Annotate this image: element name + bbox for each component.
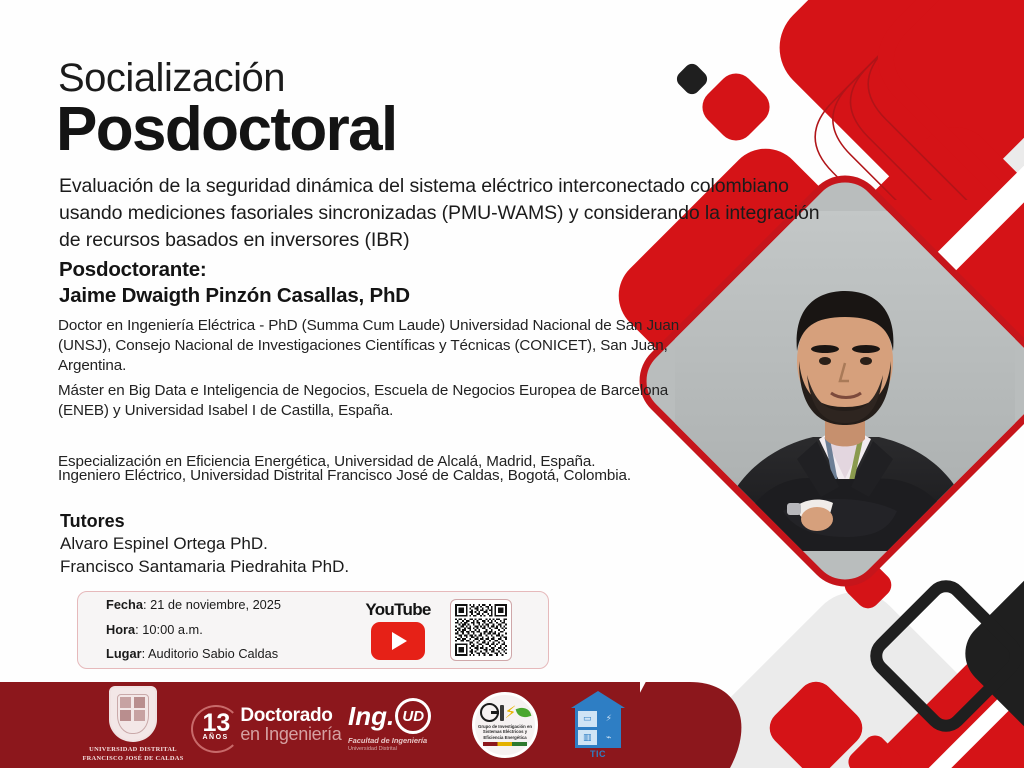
tutors-list: Alvaro Espinel Ortega PhD. Francisco San… (60, 532, 349, 579)
event-details: Fecha: 21 de noviembre, 2025 Hora: 10:00… (106, 593, 356, 668)
event-time-value: 10:00 a.m. (142, 622, 202, 637)
tic-roof-icon (571, 691, 625, 708)
ud-wordmark: UNIVERSIDAD DISTRITAL FRANCISCO JOSÉ DE … (82, 746, 183, 763)
tic-cell-plug: ⌁ (600, 730, 619, 746)
poster-headline: Posdoctoral (56, 99, 397, 161)
shield-quadrant (120, 697, 131, 708)
giee-i-icon (500, 705, 504, 721)
ing-row: Ing. UD (348, 698, 431, 734)
logo-giee: ⚡ Grupo de Investigación en Sistemas Elé… (466, 692, 544, 758)
ing-ud-circle-icon: UD (395, 698, 431, 734)
doctorado-years-number: 13 (203, 712, 231, 735)
poster-kicker: Socialización (58, 58, 285, 98)
giee-color-bar (483, 742, 527, 746)
doctorado-word-1: Doctorado (240, 707, 341, 725)
giee-circle-badge: ⚡ Grupo de Investigación en Sistemas Elé… (472, 692, 538, 758)
event-date-value: 21 de noviembre, 2025 (150, 597, 281, 612)
tutor-item: Alvaro Espinel Ortega PhD. (60, 532, 349, 555)
giee-text: Grupo de Investigación en Sistemas Eléct… (477, 724, 533, 741)
ud-line-2: FRANCISCO JOSÉ DE CALDAS (82, 755, 183, 764)
tic-cell-screen: ▭ (578, 711, 597, 727)
poster-content: Socialización Posdoctoral Evaluación de … (0, 0, 1024, 768)
logo-doctorado-en-ingenieria: 13 AÑOS Doctorado en Ingeniería (194, 707, 344, 743)
logo-universidad-distrital: UNIVERSIDAD DISTRITAL FRANCISCO JOSÉ DE … (78, 686, 188, 763)
tic-cell-chart: ▥ (578, 730, 597, 746)
ud-shield-icon (109, 686, 157, 742)
doctorado-word-2: en Ingeniería (240, 725, 341, 743)
ud-line-1: UNIVERSIDAD DISTRITAL (82, 746, 183, 755)
lightning-bolt-icon: ⚡ (505, 704, 517, 721)
tic-wordmark: TIC (590, 749, 606, 759)
event-date-label: Fecha (106, 597, 143, 612)
leaf-icon (516, 705, 532, 719)
event-info-card: Fecha: 21 de noviembre, 2025 Hora: 10:00… (77, 591, 549, 669)
shield-quadrant (120, 710, 131, 721)
presenter-block: Posdoctorante: Jaime Dwaigth Pinzón Casa… (59, 257, 410, 309)
giee-icon-group: ⚡ (480, 704, 531, 722)
doctorado-badge: 13 AÑOS (197, 709, 235, 742)
tic-cell-bolt: ⚡ (600, 711, 619, 727)
bio-paragraph-4: Ingeniero Eléctrico, Universidad Distrit… (58, 466, 713, 486)
ing-subtitle-1: Facultad de Ingeniería (348, 736, 427, 745)
event-date-line: Fecha: 21 de noviembre, 2025 (106, 593, 356, 618)
giee-g-icon (480, 703, 499, 722)
shield-quadrant (134, 697, 145, 708)
event-time-label: Hora (106, 622, 135, 637)
logo-tic: ▭ ⚡ ▥ ⌁ TIC (558, 691, 638, 759)
doctorado-wordmark: Doctorado en Ingeniería (240, 707, 341, 743)
youtube-play-icon[interactable] (371, 622, 425, 660)
bio-paragraph-1: Doctor en Ingeniería Eléctrica - PhD (Su… (58, 316, 713, 377)
event-place-value: Auditorio Sabio Caldas (148, 646, 278, 661)
poster-canvas: Socialización Posdoctoral Evaluación de … (0, 0, 1024, 768)
bio-paragraph-2: Máster en Big Data e Inteligencia de Neg… (58, 381, 713, 421)
ing-wordmark: Ing. (348, 703, 394, 729)
tic-body-icon: ▭ ⚡ ▥ ⌁ (575, 708, 621, 748)
qr-code-svg (455, 604, 507, 656)
role-label: Posdoctorante: (59, 257, 410, 283)
poster-subtitle: Evaluación de la seguridad dinámica del … (59, 173, 839, 254)
tutors-title: Tutores (60, 511, 125, 532)
event-place-line: Lugar: Auditorio Sabio Caldas (106, 642, 356, 667)
play-triangle-icon (392, 632, 407, 650)
shield-quadrant (134, 710, 145, 721)
youtube-wordmark: YouTube (365, 601, 430, 618)
footer-logo-row: UNIVERSIDAD DISTRITAL FRANCISCO JOSÉ DE … (0, 682, 660, 768)
presenter-name: Jaime Dwaigth Pinzón Casallas, PhD (59, 283, 410, 309)
event-time-line: Hora: 10:00 a.m. (106, 618, 356, 643)
youtube-logo[interactable]: YouTube (360, 601, 436, 660)
logo-ing-ud: Ing. UD Facultad de Ingeniería Universid… (348, 698, 456, 752)
doctorado-inner: 13 AÑOS Doctorado en Ingeniería (197, 707, 342, 743)
qr-code[interactable] (450, 599, 512, 661)
tutor-item: Francisco Santamaria Piedrahita PhD. (60, 555, 349, 578)
event-place-label: Lugar (106, 646, 142, 661)
ing-subtitle-2: Universidad Distrital (348, 746, 397, 752)
